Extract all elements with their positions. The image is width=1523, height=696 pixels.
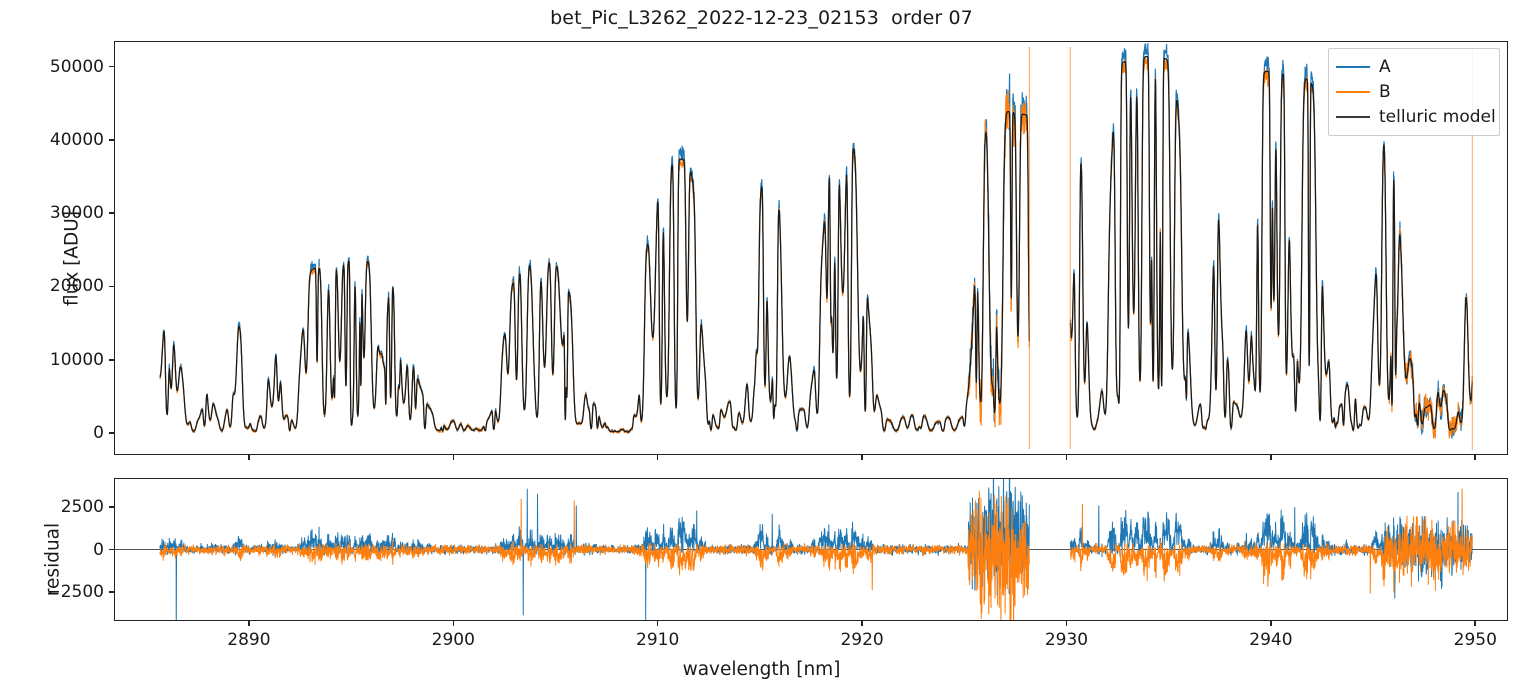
flux-plot-area — [115, 42, 1507, 454]
xtick-main — [453, 455, 455, 460]
ytick-label-resid: −2500 — [28, 582, 104, 602]
ytick-main — [109, 432, 114, 434]
xtick-resid — [453, 621, 455, 626]
ytick-label-main: 10000 — [28, 350, 104, 370]
ytick-main — [109, 139, 114, 141]
ytick-main — [109, 212, 114, 214]
spectrum-figure: bet_Pic_L3262_2022-12-23_02153 order 07 … — [0, 0, 1523, 696]
xtick-main — [248, 455, 250, 460]
xtick-label: 2910 — [636, 630, 679, 650]
xtick-label: 2920 — [840, 630, 883, 650]
xtick-resid — [248, 621, 250, 626]
legend-item-b: B — [1336, 79, 1492, 104]
figure-title: bet_Pic_L3262_2022-12-23_02153 order 07 — [0, 7, 1523, 29]
xtick-label: 2890 — [227, 630, 270, 650]
ytick-label-resid: 2500 — [28, 497, 104, 517]
ytick-resid — [109, 506, 114, 508]
legend-swatch-a — [1336, 66, 1370, 68]
residual-panel — [114, 478, 1508, 621]
legend-label-telluric: telluric model — [1379, 107, 1496, 127]
wavelength-axis-label: wavelength [nm] — [0, 659, 1523, 680]
xtick-label: 2930 — [1045, 630, 1088, 650]
legend-label-b: B — [1379, 82, 1391, 102]
xtick-main — [1270, 455, 1272, 460]
xtick-main — [1474, 455, 1476, 460]
residual-plot-area — [115, 479, 1507, 620]
flux-telluric-model — [160, 57, 1472, 432]
flux-axis-label: flux [ADU] — [62, 169, 83, 349]
residual-axis-label: residual — [43, 485, 64, 635]
ytick-label-main: 50000 — [28, 57, 104, 77]
xtick-label: 2940 — [1249, 630, 1292, 650]
flux-panel — [114, 41, 1508, 455]
xtick-label: 2900 — [432, 630, 475, 650]
ytick-resid — [109, 591, 114, 593]
legend-swatch-b — [1336, 91, 1370, 93]
ytick-label-main: 40000 — [28, 130, 104, 150]
xtick-resid — [1270, 621, 1272, 626]
xtick-resid — [1066, 621, 1068, 626]
ytick-label-resid: 0 — [28, 540, 104, 560]
ytick-main — [109, 286, 114, 288]
xtick-label: 2950 — [1454, 630, 1497, 650]
legend: A B telluric model — [1328, 48, 1500, 136]
xtick-main — [1066, 455, 1068, 460]
xtick-resid — [657, 621, 659, 626]
legend-swatch-telluric — [1336, 116, 1370, 118]
ytick-resid — [109, 549, 114, 551]
ytick-main — [109, 359, 114, 361]
legend-item-telluric: telluric model — [1336, 104, 1492, 129]
ytick-label-main: 0 — [28, 423, 104, 443]
xtick-resid — [861, 621, 863, 626]
xtick-resid — [1474, 621, 1476, 626]
residual-series-b — [160, 489, 1472, 620]
legend-item-a: A — [1336, 54, 1492, 79]
legend-label-a: A — [1379, 57, 1391, 77]
ytick-main — [109, 66, 114, 68]
xtick-main — [657, 455, 659, 460]
xtick-main — [861, 455, 863, 460]
